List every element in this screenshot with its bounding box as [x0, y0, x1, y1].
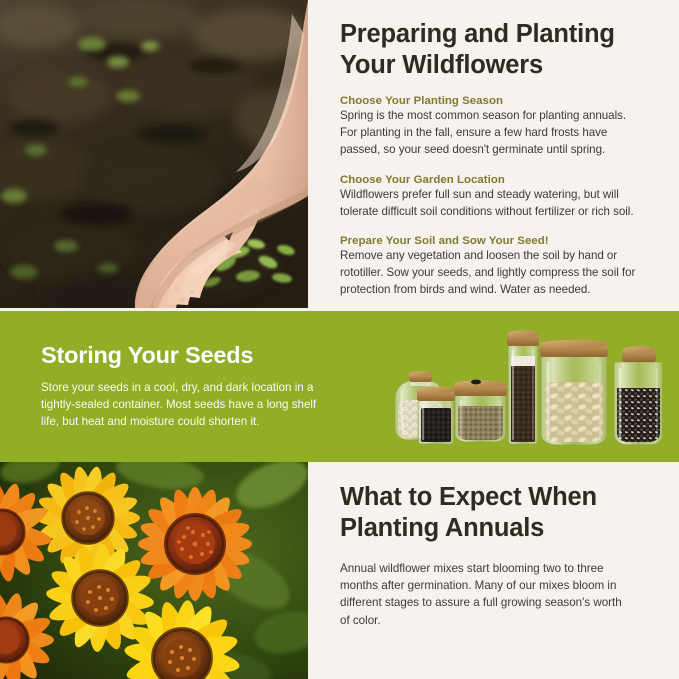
- seed-storage-jars-photo: [382, 326, 662, 446]
- jar-sunflower-seeds: [614, 346, 662, 445]
- jar-grain-seeds: [454, 380, 507, 442]
- body-prepare-soil: Remove any vegetation and loosen the soi…: [340, 247, 670, 299]
- body-storing-seeds: Store your seeds in a cool, dry, and dar…: [41, 379, 339, 431]
- content-block-planting-season: Choose Your Planting Season Spring is th…: [340, 95, 670, 159]
- subheading-prepare-soil: Prepare Your Soil and Sow Your Seed!: [340, 235, 670, 247]
- subheading-garden-location: Choose Your Garden Location: [340, 174, 670, 186]
- body-garden-location: Wildflowers prefer full sun and steady w…: [340, 186, 670, 220]
- seed-jars-graphic: [382, 326, 662, 446]
- soil-photo-graphic: [0, 0, 308, 308]
- section-what-to-expect: What to Expect When Planting Annuals Ann…: [0, 462, 679, 679]
- jar-pumpkin-seeds: [540, 340, 608, 445]
- body-planting-season: Spring is the most common season for pla…: [340, 107, 670, 159]
- jar-black-seeds: [417, 387, 455, 444]
- infographic-page: Preparing and Planting Your Wildflowers …: [0, 0, 679, 679]
- content-block-garden-location: Choose Your Garden Location Wildflowers …: [340, 174, 670, 220]
- subheading-planting-season: Choose Your Planting Season: [340, 95, 670, 107]
- preparing-planting-text-column: Preparing and Planting Your Wildflowers …: [340, 0, 670, 311]
- content-block-prepare-soil: Prepare Your Soil and Sow Your Seed! Rem…: [340, 235, 670, 299]
- page-title-preparing: Preparing and Planting Your Wildflowers: [340, 0, 670, 81]
- section-preparing-and-planting: Preparing and Planting Your Wildflowers …: [0, 0, 679, 311]
- yellow-orange-flowers-photo: [0, 462, 308, 679]
- hand-sowing-seeds-photo: [0, 0, 308, 308]
- page-title-storing-seeds: Storing Your Seeds: [41, 342, 253, 369]
- body-what-to-expect: Annual wildflower mixes start blooming t…: [340, 560, 670, 629]
- page-title-what-to-expect: What to Expect When Planting Annuals: [340, 462, 670, 544]
- jar-tall-dark-seeds: [507, 330, 539, 444]
- what-to-expect-text-column: What to Expect When Planting Annuals Ann…: [340, 462, 670, 640]
- flowers-photo-graphic: [0, 462, 308, 679]
